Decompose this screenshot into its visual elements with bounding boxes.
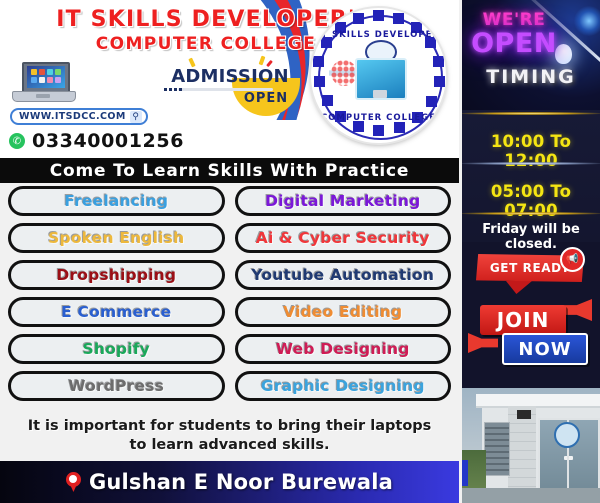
course-row: WordPressGraphic Designing	[8, 371, 451, 401]
course-label: Ai & Cyber Security	[256, 229, 430, 247]
laptop-icon	[12, 62, 74, 104]
were-label: WE'RE	[468, 10, 560, 30]
course-label: Digital Marketing	[265, 192, 420, 210]
course-label: Spoken English	[48, 229, 184, 247]
course-pill[interactable]: Shopify	[8, 334, 225, 364]
megaphone-icon: 📢	[560, 247, 585, 272]
college-logo: IT SKILLS DEVELOPER COMPUTER COLLEGE	[311, 8, 446, 143]
course-pill[interactable]: Graphic Designing	[235, 371, 452, 401]
left-column: IT SKILLS DEVELOPER' COMPUTER COLLEGE W	[0, 0, 459, 503]
divider-gold-top	[462, 112, 600, 115]
open-label: OPEN	[232, 91, 300, 106]
divider-gold-bottom	[462, 212, 600, 215]
course-row: ShopifyWeb Designing	[8, 334, 451, 364]
course-pill[interactable]: Dropshipping	[8, 260, 225, 290]
admission-label: ADMISSION	[160, 66, 300, 87]
course-row: DropshippingYoutube Automation	[8, 260, 451, 290]
course-label: WordPress	[68, 377, 164, 395]
note-line-1: It is important for students to bring th…	[0, 417, 459, 436]
megaphone-icon	[468, 333, 498, 353]
note-line-2: to learn advanced skills.	[0, 436, 459, 455]
location-pin-icon	[66, 472, 81, 492]
building-photo	[462, 388, 600, 503]
course-pill[interactable]: Video Editing	[235, 297, 452, 327]
monitor-icon	[355, 58, 407, 100]
website-badge[interactable]: WWW.ITSDCC.COM ⚲	[10, 108, 148, 125]
course-label: Video Editing	[283, 303, 402, 321]
get-ready-label: GET READY	[490, 261, 570, 275]
promo-block: GET READY 📢 JOIN NOW	[462, 245, 600, 388]
course-label: Dropshipping	[56, 266, 176, 284]
join-label: JOIN	[497, 308, 550, 332]
course-label: Graphic Designing	[261, 377, 425, 395]
tagline-text: Come To Learn Skills With Practice	[50, 161, 409, 181]
whatsapp-icon: ✆	[9, 133, 25, 149]
address-text: Gulshan E Noor Burewala	[89, 470, 393, 494]
course-label: Youtube Automation	[251, 266, 434, 284]
course-pill[interactable]: WordPress	[8, 371, 225, 401]
search-icon: ⚲	[130, 111, 142, 123]
course-pill[interactable]: Ai & Cyber Security	[235, 223, 452, 253]
course-row: FreelancingDigital Marketing	[8, 186, 451, 216]
course-label: Freelancing	[64, 192, 168, 210]
join-banner: JOIN	[480, 305, 566, 335]
course-list: FreelancingDigital MarketingSpoken Engli…	[0, 186, 459, 410]
course-pill[interactable]: Spoken English	[8, 223, 225, 253]
course-pill[interactable]: Digital Marketing	[235, 186, 452, 216]
right-column: WE'RE OPEN TIMING 10:00 To 12:00 05:00 T…	[462, 0, 600, 503]
ribbon-tail	[506, 281, 532, 294]
light-glow	[574, 6, 600, 36]
now-label: NOW	[518, 339, 571, 360]
course-row: Spoken EnglishAi & Cyber Security	[8, 223, 451, 253]
logo-dot-pattern	[331, 60, 357, 86]
open-neon-label: OPEN	[464, 28, 564, 59]
note-text: It is important for students to bring th…	[0, 414, 459, 458]
website-url: WWW.ITSDCC.COM	[19, 111, 126, 122]
logo-bottom-text: COMPUTER COLLEGE	[311, 113, 446, 123]
course-pill[interactable]: Web Designing	[235, 334, 452, 364]
phone-row[interactable]: ✆ 03340001256	[9, 130, 184, 152]
admission-open-badge: ADMISSION OPEN	[160, 58, 300, 116]
course-row: E CommerceVideo Editing	[8, 297, 451, 327]
course-label: Web Designing	[276, 340, 410, 358]
logo-top-text: IT SKILLS DEVELOPER	[311, 30, 446, 40]
course-label: Shopify	[82, 340, 150, 358]
header-section: IT SKILLS DEVELOPER' COMPUTER COLLEGE W	[0, 0, 459, 158]
timing-heading: TIMING	[462, 66, 600, 88]
page-title-line1: IT SKILLS DEVELOPER'	[56, 7, 356, 32]
course-pill[interactable]: Freelancing	[8, 186, 225, 216]
poster-root: IT SKILLS DEVELOPER' COMPUTER COLLEGE W	[0, 0, 600, 503]
confetti-icon	[259, 56, 266, 66]
divider-silver	[462, 162, 600, 165]
footer-address-bar: Gulshan E Noor Burewala	[0, 461, 459, 503]
phone-number: 03340001256	[32, 130, 184, 152]
now-banner: NOW	[502, 333, 588, 365]
course-pill[interactable]: E Commerce	[8, 297, 225, 327]
course-pill[interactable]: Youtube Automation	[235, 260, 452, 290]
course-label: E Commerce	[61, 303, 171, 321]
admission-dots	[164, 88, 182, 91]
tagline-banner: Come To Learn Skills With Practice	[0, 158, 459, 183]
neon-open-sign: WE'RE OPEN TIMING	[462, 0, 600, 110]
